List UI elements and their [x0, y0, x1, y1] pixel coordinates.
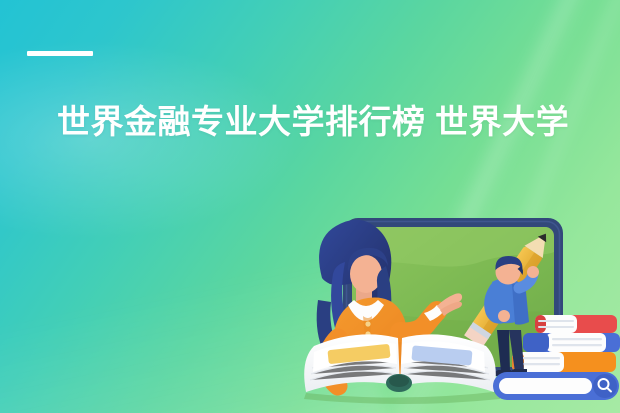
article-cover-banner: 世界金融专业大学排行榜 世界大学: [0, 0, 620, 413]
accent-rule: [27, 51, 93, 56]
background-gradient: [0, 0, 620, 413]
page-title: 世界金融专业大学排行榜 世界大学: [57, 101, 577, 143]
